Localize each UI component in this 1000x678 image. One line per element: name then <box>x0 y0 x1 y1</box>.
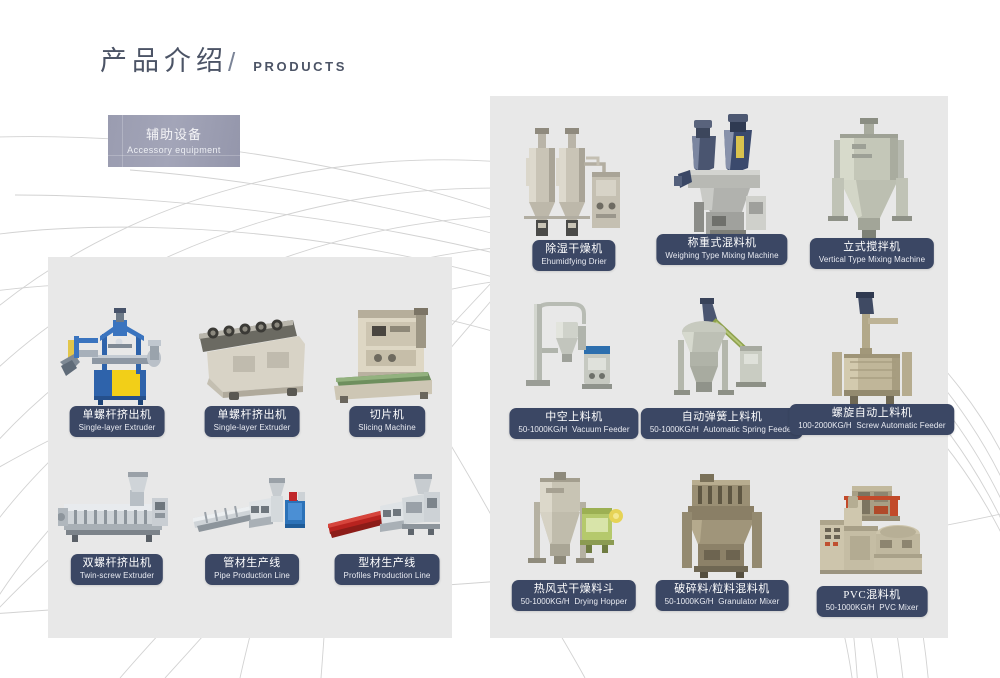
product-label-cn: 单螺杆挤出机 <box>214 409 291 422</box>
product-label-en: Weighing Type Mixing Machine <box>665 250 778 261</box>
twin-screw-extruder-icon <box>58 462 176 552</box>
pipe-production-line-icon <box>193 462 311 552</box>
product-label-cn: PVC混料机 <box>826 589 919 602</box>
product-cell-weighing-mixing-machine[interactable]: 称重式混料机 Weighing Type Mixing Machine <box>666 112 778 268</box>
profiles-production-line-icon <box>328 462 446 552</box>
product-cell-drying-hopper[interactable]: 热风式干燥料斗 50-1000KG/H Drying Hopper <box>518 472 630 608</box>
product-badge[interactable]: 除湿干燥机 Ehumidfying Drier <box>532 240 615 271</box>
product-label-cn: 螺旋自动上料机 <box>798 407 945 420</box>
automatic-spring-feeder-icon <box>666 296 778 408</box>
vertical-mixing-machine-icon <box>816 116 928 240</box>
product-spec: 50-1000KG/H <box>665 597 714 606</box>
product-label-cn: 型材生产线 <box>344 557 431 570</box>
product-label-en: 50-1000KG/H Automatic Spring Feeder <box>650 424 794 435</box>
product-spec: 50-1000KG/H <box>650 425 699 434</box>
product-badge[interactable]: 立式搅拌机 Vertical Type Mixing Machine <box>810 238 934 269</box>
product-cell-pvc-mixer[interactable]: PVC混料机 50-1000KG/H PVC Mixer <box>816 478 928 608</box>
vacuum-feeder-icon <box>518 296 630 408</box>
page-title-en: PRODUCTS <box>253 60 347 75</box>
granulator-mixer-icon <box>666 472 778 580</box>
product-label-en-text: Granulator Mixer <box>718 597 779 606</box>
accessory-plate-label-en: Accessory equipment <box>127 145 221 155</box>
product-label-cn: 热风式干燥料斗 <box>521 583 627 596</box>
product-cell-pipe-production-line[interactable]: 管材生产线 Pipe Production Line <box>193 462 311 582</box>
product-label-en-text: PVC Mixer <box>879 603 918 612</box>
product-spec: 100-2000KG/H <box>798 421 851 430</box>
product-label-cn: 双螺杆挤出机 <box>80 557 154 570</box>
product-label-en: Pipe Production Line <box>214 570 290 581</box>
product-label-cn: 除湿干燥机 <box>541 243 606 256</box>
product-cell-slicing-machine[interactable]: 切片机 Slicing Machine <box>328 300 446 436</box>
slicing-machine-icon <box>328 300 446 405</box>
product-label-cn: 切片机 <box>358 409 416 422</box>
product-spec: 50-1000KG/H <box>521 597 570 606</box>
product-label-en: 50-1000KG/H Vacuum Feeder <box>518 424 629 435</box>
single-layer-extruder-icon <box>58 300 176 405</box>
product-badge[interactable]: 热风式干燥料斗 50-1000KG/H Drying Hopper <box>512 580 636 611</box>
drying-hopper-icon <box>518 472 630 580</box>
product-badge[interactable]: 自动弹簧上料机 50-1000KG/H Automatic Spring Fee… <box>641 408 803 439</box>
product-spec: 50-1000KG/H <box>826 603 875 612</box>
plate-gridline-vertical <box>122 115 123 167</box>
product-label-cn: 管材生产线 <box>214 557 290 570</box>
screw-automatic-feeder-icon <box>816 292 928 408</box>
product-label-en: Single-layer Extruder <box>214 422 291 433</box>
product-label-en: Slicing Machine <box>358 422 416 433</box>
product-badge[interactable]: 中空上料机 50-1000KG/H Vacuum Feeder <box>509 408 638 439</box>
product-cell-vacuum-feeder[interactable]: 中空上料机 50-1000KG/H Vacuum Feeder <box>518 296 630 436</box>
product-badge[interactable]: 称重式混料机 Weighing Type Mixing Machine <box>656 234 787 265</box>
product-label-en-text: Automatic Spring Feeder <box>703 425 794 434</box>
product-cell-screw-automatic-feeder[interactable]: 螺旋自动上料机 100-2000KG/H Screw Automatic Fee… <box>816 292 928 436</box>
pvc-mixer-icon <box>816 478 928 580</box>
product-badge[interactable]: 型材生产线 Profiles Production Line <box>335 554 440 585</box>
product-label-en: Single-layer Extruder <box>79 422 156 433</box>
weighing-mixing-machine-icon <box>666 112 778 240</box>
product-label-cn: 称重式混料机 <box>665 237 778 250</box>
product-cell-granulator-mixer[interactable]: 破碎料/粒料混料机 50-1000KG/H Granulator Mixer <box>666 472 778 608</box>
product-badge[interactable]: 双螺杆挤出机 Twin-screw Extruder <box>71 554 163 585</box>
product-label-en: Twin-screw Extruder <box>80 570 154 581</box>
product-cell-dehumidifying-drier[interactable]: 除湿干燥机 Ehumidfying Drier <box>518 118 630 268</box>
product-label-cn: 单螺杆挤出机 <box>79 409 156 422</box>
product-badge[interactable]: 破碎料/粒料混料机 50-1000KG/H Granulator Mixer <box>656 580 789 611</box>
product-cell-single-layer-extruder-1[interactable]: 单螺杆挤出机 Single-layer Extruder <box>58 300 176 436</box>
product-badge[interactable]: 切片机 Slicing Machine <box>349 406 425 437</box>
product-label-en-text: Screw Automatic Feeder <box>856 421 945 430</box>
product-label-en-text: Vacuum Feeder <box>572 425 630 434</box>
product-label-cn: 自动弹簧上料机 <box>650 411 794 424</box>
product-label-en: Vertical Type Mixing Machine <box>819 254 925 265</box>
product-cell-profiles-production-line[interactable]: 型材生产线 Profiles Production Line <box>328 462 446 582</box>
page-root: 产品介绍 / PRODUCTS 辅助设备 Accessory equipment <box>0 0 1000 678</box>
page-title-slash: / <box>228 49 235 75</box>
product-spec: 50-1000KG/H <box>518 425 567 434</box>
product-badge[interactable]: PVC混料机 50-1000KG/H PVC Mixer <box>817 586 928 617</box>
accessory-equipment-plate: 辅助设备 Accessory equipment <box>108 115 240 167</box>
single-layer-extruder-icon <box>193 300 311 405</box>
product-badge[interactable]: 单螺杆挤出机 Single-layer Extruder <box>205 406 300 437</box>
dehumidifying-drier-icon <box>518 118 630 240</box>
product-label-cn: 中空上料机 <box>518 411 629 424</box>
product-label-en: 100-2000KG/H Screw Automatic Feeder <box>798 420 945 431</box>
product-cell-vertical-mixing-machine[interactable]: 立式搅拌机 Vertical Type Mixing Machine <box>816 116 928 268</box>
product-label-en: Ehumidfying Drier <box>541 256 606 267</box>
product-label-en: 50-1000KG/H Granulator Mixer <box>665 596 780 607</box>
product-cell-automatic-spring-feeder[interactable]: 自动弹簧上料机 50-1000KG/H Automatic Spring Fee… <box>666 296 778 436</box>
product-badge[interactable]: 单螺杆挤出机 Single-layer Extruder <box>70 406 165 437</box>
product-label-cn: 破碎料/粒料混料机 <box>665 583 780 596</box>
product-cell-twin-screw-extruder[interactable]: 双螺杆挤出机 Twin-screw Extruder <box>58 462 176 582</box>
product-label-en: 50-1000KG/H Drying Hopper <box>521 596 627 607</box>
product-label-en: 50-1000KG/H PVC Mixer <box>826 602 919 613</box>
accessory-plate-label-cn: 辅助设备 <box>146 127 202 143</box>
page-title-cn: 产品介绍 <box>100 48 228 75</box>
page-title: 产品介绍 / PRODUCTS <box>100 48 347 75</box>
product-cell-single-layer-extruder-2[interactable]: 单螺杆挤出机 Single-layer Extruder <box>193 300 311 436</box>
product-badge[interactable]: 螺旋自动上料机 100-2000KG/H Screw Automatic Fee… <box>789 404 954 435</box>
product-label-en-text: Drying Hopper <box>574 597 627 606</box>
product-label-cn: 立式搅拌机 <box>819 241 925 254</box>
product-badge[interactable]: 管材生产线 Pipe Production Line <box>205 554 299 585</box>
product-label-en: Profiles Production Line <box>344 570 431 581</box>
